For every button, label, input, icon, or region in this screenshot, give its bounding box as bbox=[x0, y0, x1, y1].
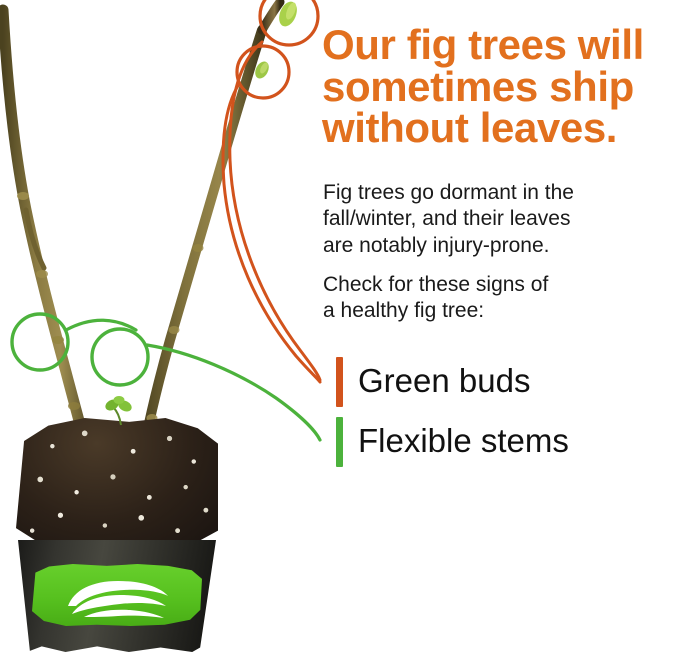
sign-label-flexible-stems: Flexible stems bbox=[358, 416, 569, 466]
fig-tree-photo bbox=[0, 0, 340, 657]
list-item: Green buds bbox=[318, 352, 679, 412]
nursery-pot bbox=[18, 540, 216, 657]
body-paragraph-2: Check for these signs of a healthy fig t… bbox=[323, 272, 653, 325]
body-paragraph-1: Fig trees go dormant in the fall/winter,… bbox=[323, 180, 653, 259]
signs-list: Green buds Flexible stems bbox=[318, 352, 679, 472]
infographic-canvas: Our fig trees will sometimes ship withou… bbox=[0, 0, 679, 657]
seedling-shoot-icon bbox=[104, 396, 138, 426]
sign-label-green-buds: Green buds bbox=[358, 356, 530, 406]
paragraph-1-line-2: fall/winter, and their leaves bbox=[323, 206, 653, 232]
paragraph-1-line-1: Fig trees go dormant in the bbox=[323, 180, 653, 206]
headline-line-1: Our fig trees will bbox=[322, 24, 679, 66]
paragraph-2-line-2: a healthy fig tree: bbox=[323, 298, 653, 324]
text-column: Our fig trees will sometimes ship withou… bbox=[318, 0, 679, 657]
headline-line-3: without leaves. bbox=[322, 107, 679, 149]
brand-leaf-logo-icon bbox=[62, 576, 174, 620]
sign-bar-green-buds bbox=[336, 357, 343, 407]
potting-soil bbox=[16, 418, 218, 546]
headline: Our fig trees will sometimes ship withou… bbox=[322, 24, 679, 149]
sign-bar-flexible-stems bbox=[336, 417, 343, 467]
list-item: Flexible stems bbox=[318, 412, 679, 472]
paragraph-1-line-3: are notably injury-prone. bbox=[323, 233, 653, 259]
paragraph-2-line-1: Check for these signs of bbox=[323, 272, 653, 298]
headline-line-2: sometimes ship bbox=[322, 66, 679, 108]
